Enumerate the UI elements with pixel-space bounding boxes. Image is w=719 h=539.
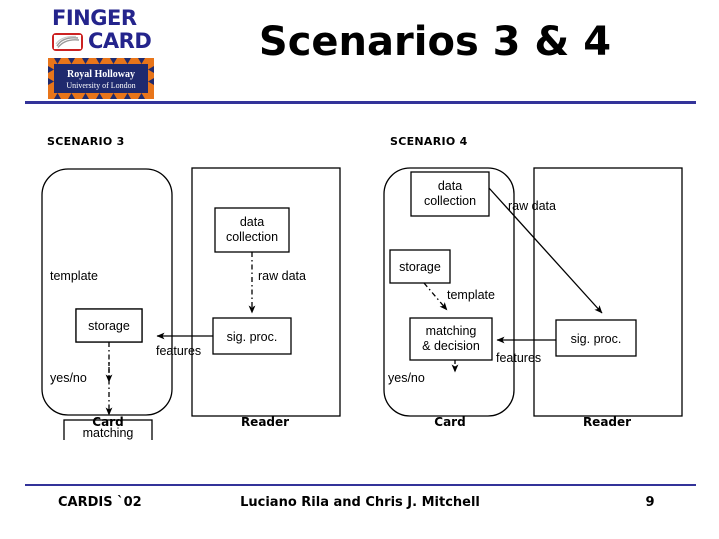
sig-proc-label-4: sig. proc. <box>571 332 622 346</box>
features-edge-label-4: features <box>496 351 541 365</box>
finger-card-wordmark: FINGER CARD <box>48 8 158 54</box>
fingerprint-card-icon <box>52 33 83 51</box>
card-zone-label-3: Card <box>78 415 138 429</box>
reader-zone-label-4: Reader <box>577 415 637 429</box>
matching-label-4-line2: & decision <box>422 339 480 353</box>
brand-text-finger: FINGER <box>52 8 137 29</box>
template-edge-label-3: template <box>50 269 98 283</box>
footer-authors: Luciano Rila and Chris J. Mitchell <box>240 494 480 511</box>
scenarios-diagram: storage matching & decision data collect… <box>0 110 719 440</box>
features-edge-label-3: features <box>156 344 201 358</box>
reader-zone-4 <box>534 168 682 416</box>
brand-text-card: CARD <box>88 31 151 52</box>
template-arrow-4 <box>424 283 447 310</box>
finger-card-logo: FINGER CARD <box>48 8 158 96</box>
header-divider <box>25 101 696 104</box>
footer-divider <box>25 484 696 486</box>
template-edge-label-4: template <box>447 288 495 302</box>
storage-label-3: storage <box>88 319 130 333</box>
reader-zone-label-3: Reader <box>235 415 295 429</box>
raw-data-edge-label-3: raw data <box>258 269 306 283</box>
data-collection-label-4-line1: data <box>438 179 462 193</box>
yesno-edge-label-4: yes/no <box>388 371 425 385</box>
matching-label-4-line1: matching <box>426 324 477 338</box>
university-name-line2: University of London <box>48 81 154 91</box>
data-collection-label-3-line2: collection <box>226 230 278 244</box>
data-collection-label-4-line2: collection <box>424 194 476 208</box>
data-collection-label-3-line1: data <box>240 215 264 229</box>
yesno-edge-label-3: yes/no <box>50 371 87 385</box>
university-name-line1: Royal Holloway <box>48 70 154 80</box>
reader-zone-3 <box>192 168 340 416</box>
footer-conference: CARDIS `02 <box>58 494 142 511</box>
page-title: Scenarios 3 & 4 <box>180 18 690 66</box>
footer-page-number: 9 <box>640 494 660 511</box>
royal-holloway-logo: Royal Holloway University of London <box>48 58 154 99</box>
card-zone-label-4: Card <box>420 415 480 429</box>
raw-data-edge-label-4: raw data <box>508 199 556 213</box>
sig-proc-label-3: sig. proc. <box>227 330 278 344</box>
storage-label-4: storage <box>399 260 441 274</box>
